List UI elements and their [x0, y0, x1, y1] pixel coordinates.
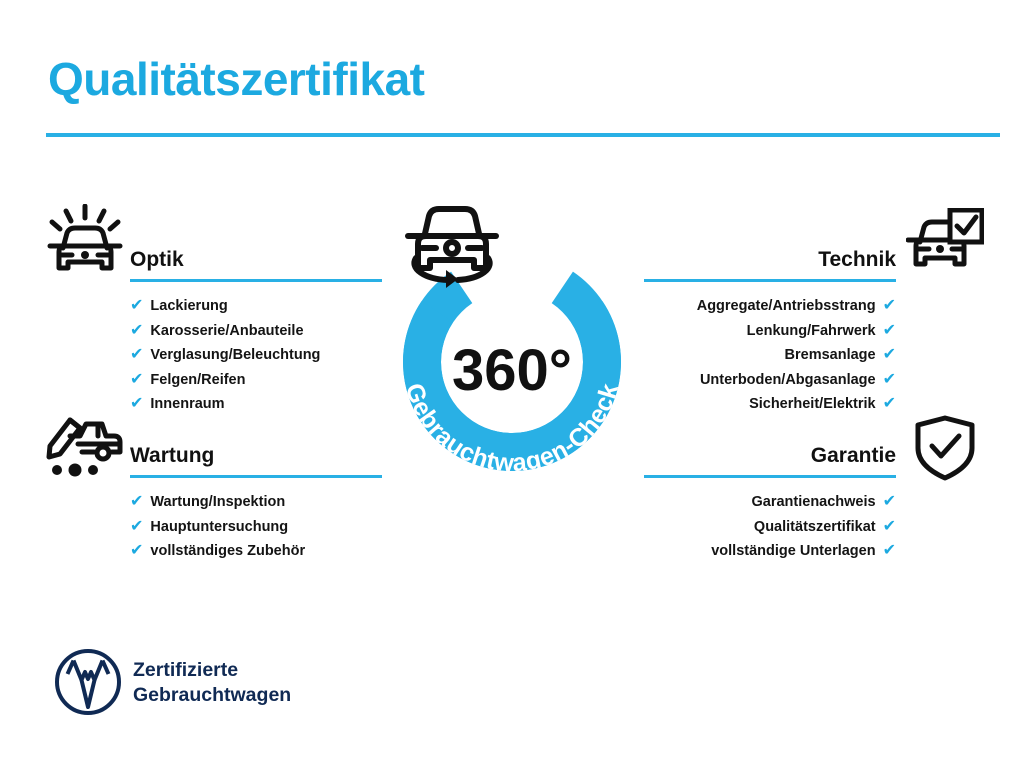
check-icon: ✔ — [883, 392, 896, 416]
page-title: Qualitätszertifikat — [48, 52, 425, 106]
list-item-label: Sicherheit/Elektrik — [749, 393, 876, 417]
list-item: ✔ vollständiges Zubehör — [130, 539, 382, 564]
section-title-optik: Optik — [130, 248, 184, 272]
list-item-label: Karosserie/Anbauteile — [150, 320, 303, 344]
badge-center-text: 360° — [452, 338, 572, 403]
brand-text: Zertifizierte Gebrauchtwagen — [133, 658, 291, 708]
check-icon: ✔ — [130, 368, 143, 392]
section-header: Technik — [644, 234, 896, 282]
check-icon: ✔ — [130, 490, 143, 514]
list-item: Qualitätszertifikat ✔ — [644, 515, 896, 540]
list-item: ✔ Hauptuntersuchung — [130, 515, 382, 540]
section-optik: Optik ✔ Lackierung ✔ Karosserie/Anbautei… — [130, 234, 382, 417]
list-item: Bremsanlage ✔ — [644, 343, 896, 368]
list-item: Sicherheit/Elektrik ✔ — [644, 392, 896, 417]
section-divider — [644, 475, 896, 478]
list-item-label: Hauptuntersuchung — [150, 516, 288, 540]
section-title-wartung: Wartung — [130, 444, 214, 468]
section-garantie: Garantie Garantienachweis ✔ Qualitätszer… — [644, 430, 896, 564]
check-icon: ✔ — [130, 392, 143, 416]
list-item-label: vollständiges Zubehör — [150, 540, 305, 564]
shield-check-icon — [912, 414, 978, 482]
check-icon: ✔ — [130, 294, 143, 318]
list-item-label: Lackierung — [150, 295, 227, 319]
check-icon: ✔ — [130, 343, 143, 367]
car-front-lights-icon — [46, 204, 124, 278]
list-item-label: Verglasung/Beleuchtung — [150, 344, 320, 368]
list-item-label: Innenraum — [150, 393, 224, 417]
title-divider — [46, 133, 1000, 137]
certificate-page: Qualitätszertifikat — [0, 0, 1024, 768]
list-item: ✔ Lackierung — [130, 294, 382, 319]
list-item: Lenkung/Fahrwerk ✔ — [644, 319, 896, 344]
list-item: ✔ Innenraum — [130, 392, 382, 417]
list-item: Aggregate/Antriebsstrang ✔ — [644, 294, 896, 319]
section-title-garantie: Garantie — [811, 444, 896, 468]
section-divider — [130, 475, 382, 478]
list-item: vollständige Unterlagen ✔ — [644, 539, 896, 564]
checklist-garantie: Garantienachweis ✔ Qualitätszertifikat ✔… — [644, 490, 896, 564]
car-front-checkbox-icon — [906, 208, 984, 274]
section-header: Garantie — [644, 430, 896, 478]
list-item: Unterboden/Abgasanlage ✔ — [644, 368, 896, 393]
vw-logo-icon — [54, 648, 122, 716]
section-technik: Technik Aggregate/Antriebsstrang ✔ Lenku… — [644, 234, 896, 417]
360-check-badge: Gebrauchtwagen-Check 360° — [372, 194, 652, 494]
check-icon: ✔ — [130, 515, 143, 539]
section-header: Optik — [130, 234, 382, 282]
check-icon: ✔ — [883, 319, 896, 343]
check-icon: ✔ — [883, 343, 896, 367]
list-item: ✔ Felgen/Reifen — [130, 368, 382, 393]
list-item-label: Wartung/Inspektion — [150, 491, 285, 515]
list-item-label: Felgen/Reifen — [150, 369, 245, 393]
section-divider — [644, 279, 896, 282]
list-item-label: Aggregate/Antriebsstrang — [697, 295, 876, 319]
section-wartung: Wartung ✔ Wartung/Inspektion ✔ Hauptunte… — [130, 430, 382, 564]
check-icon: ✔ — [130, 319, 143, 343]
list-item-label: Qualitätszertifikat — [754, 516, 876, 540]
list-item-label: Garantienachweis — [751, 491, 875, 515]
check-icon: ✔ — [883, 294, 896, 318]
list-item: ✔ Karosserie/Anbauteile — [130, 319, 382, 344]
brand-line-2: Gebrauchtwagen — [133, 683, 291, 708]
brand-line-1: Zertifizierte — [133, 658, 291, 683]
list-item-label: Unterboden/Abgasanlage — [700, 369, 876, 393]
checklist-technik: Aggregate/Antriebsstrang ✔ Lenkung/Fahrw… — [644, 294, 896, 417]
car-rotate-icon — [408, 209, 496, 288]
list-item: Garantienachweis ✔ — [644, 490, 896, 515]
pen-car-service-icon — [46, 414, 124, 478]
check-icon: ✔ — [883, 490, 896, 514]
list-item-label: Bremsanlage — [785, 344, 876, 368]
check-icon: ✔ — [130, 539, 143, 563]
checklist-optik: ✔ Lackierung ✔ Karosserie/Anbauteile ✔ V… — [130, 294, 382, 417]
section-title-technik: Technik — [818, 248, 896, 272]
check-icon: ✔ — [883, 539, 896, 563]
list-item: ✔ Wartung/Inspektion — [130, 490, 382, 515]
list-item: ✔ Verglasung/Beleuchtung — [130, 343, 382, 368]
check-icon: ✔ — [883, 515, 896, 539]
section-header: Wartung — [130, 430, 382, 478]
checklist-wartung: ✔ Wartung/Inspektion ✔ Hauptuntersuchung… — [130, 490, 382, 564]
section-divider — [130, 279, 382, 282]
list-item-label: Lenkung/Fahrwerk — [747, 320, 876, 344]
check-icon: ✔ — [883, 368, 896, 392]
list-item-label: vollständige Unterlagen — [711, 540, 875, 564]
